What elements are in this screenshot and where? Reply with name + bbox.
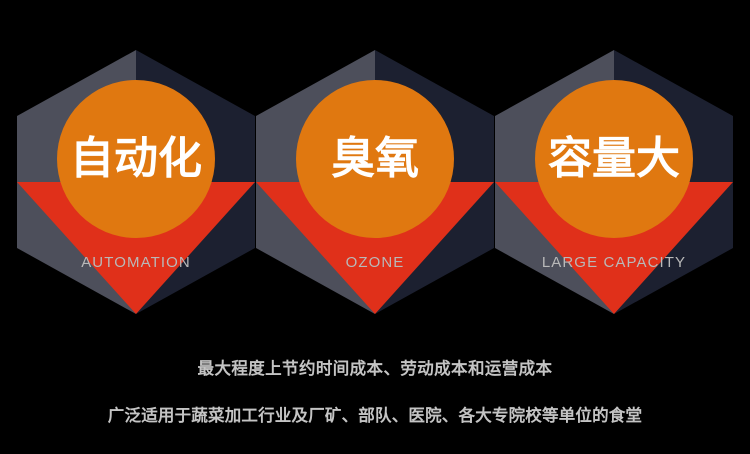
feature-caption: LARGE CAPACITY [495, 254, 733, 271]
feature-disc: 容量大 [535, 80, 693, 238]
feature-disc: 自动化 [57, 80, 215, 238]
feature-title: 容量大 [548, 137, 680, 181]
feature-banner: 自动化 AUTOMATION 臭氧 OZONE [0, 0, 750, 454]
feature-hexagon-large-capacity[interactable]: 容量大 LARGE CAPACITY [495, 50, 733, 314]
feature-hexagon-automation[interactable]: 自动化 AUTOMATION [17, 50, 255, 314]
feature-caption: AUTOMATION [17, 254, 255, 271]
feature-title: 自动化 [70, 137, 202, 181]
footer-line-2: 广泛适用于蔬菜加工行业及厂矿、部队、医院、各大专院校等单位的食堂 [0, 399, 750, 433]
footer-copy: 最大程度上节约时间成本、劳动成本和运营成本 广泛适用于蔬菜加工行业及厂矿、部队、… [0, 352, 750, 433]
feature-title: 臭氧 [331, 137, 419, 181]
feature-hexagon-ozone[interactable]: 臭氧 OZONE [256, 50, 494, 314]
feature-disc: 臭氧 [296, 80, 454, 238]
footer-line-1: 最大程度上节约时间成本、劳动成本和运营成本 [0, 352, 750, 386]
feature-caption: OZONE [256, 254, 494, 271]
hexagon-feature-row: 自动化 AUTOMATION 臭氧 OZONE [0, 0, 750, 330]
